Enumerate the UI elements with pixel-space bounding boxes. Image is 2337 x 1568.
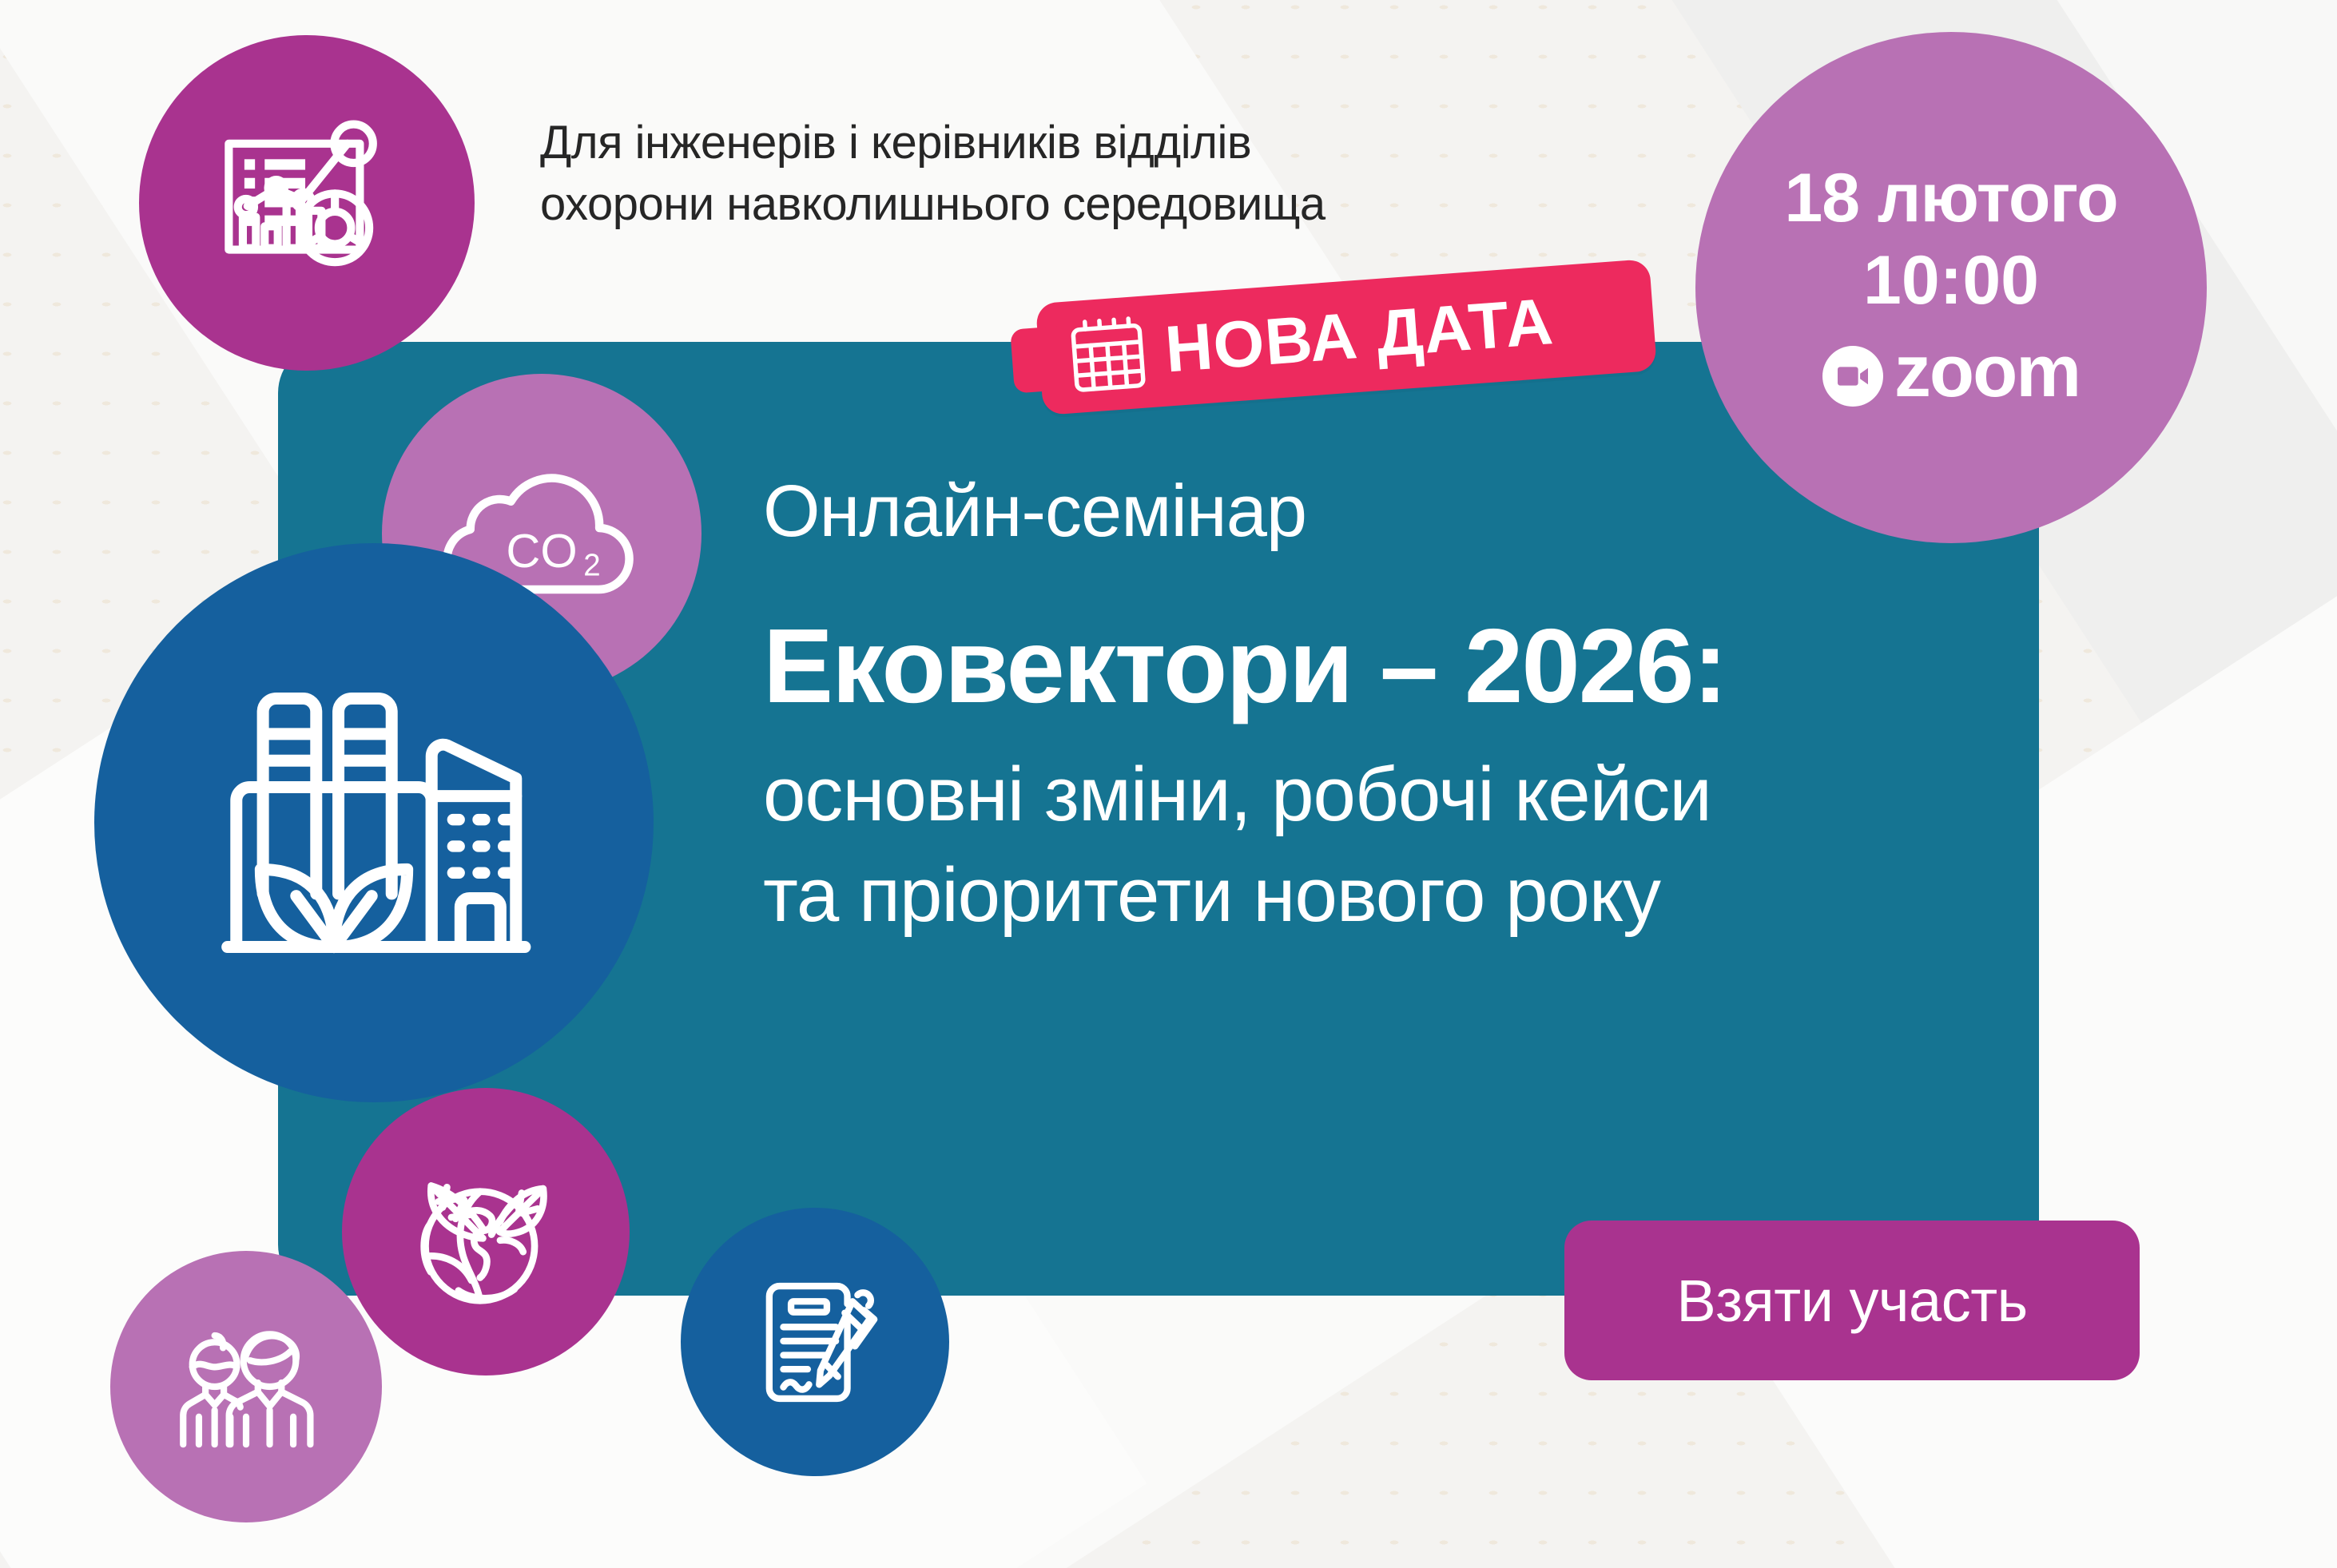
event-date: 18 лютого — [1784, 162, 2117, 234]
event-format-kicker: Онлайн-семінар — [763, 471, 2041, 552]
promo-banner: CO 2 — [0, 0, 2337, 1568]
event-time: 10:00 — [1863, 240, 2039, 322]
zoom-platform: zoom — [1822, 339, 2080, 413]
subtitle-line-1: основні зміни, робочі кейси — [763, 744, 2041, 846]
intro-line-2: охорони навколишнього середовища — [540, 173, 1675, 235]
eco-factory-icon — [94, 543, 654, 1102]
calendar-icon — [1063, 310, 1152, 399]
svg-text:2: 2 — [583, 549, 600, 583]
subtitle-line-2: та пріоритети нового року — [763, 845, 2041, 947]
people-pair-icon — [110, 1251, 382, 1522]
document-pen-icon — [681, 1208, 949, 1476]
page-title: Ековектори – 2026: — [763, 609, 2041, 724]
zoom-label: zoom — [1894, 335, 2080, 408]
headline-block: Онлайн-семінар Ековектори – 2026: основн… — [763, 471, 2041, 947]
badge-tab — [1010, 326, 1071, 394]
event-datetime-circle: 18 лютого 10:00 zoom — [1695, 32, 2207, 543]
page-subtitle: основні зміни, робочі кейси та пріоритет… — [763, 744, 2041, 947]
svg-text:CO: CO — [506, 524, 577, 578]
register-button[interactable]: Взяти участь — [1564, 1221, 2140, 1380]
zoom-camera-icon — [1822, 346, 1883, 407]
audience-intro-text: Для інженерів і керівників відділів охор… — [540, 112, 1675, 235]
intro-line-1: Для інженерів і керівників відділів — [540, 112, 1675, 173]
dashboard-analytics-icon — [139, 35, 475, 371]
new-date-badge-label: НОВА ДАТА — [1163, 284, 1556, 387]
globe-leaf-icon — [342, 1088, 630, 1375]
